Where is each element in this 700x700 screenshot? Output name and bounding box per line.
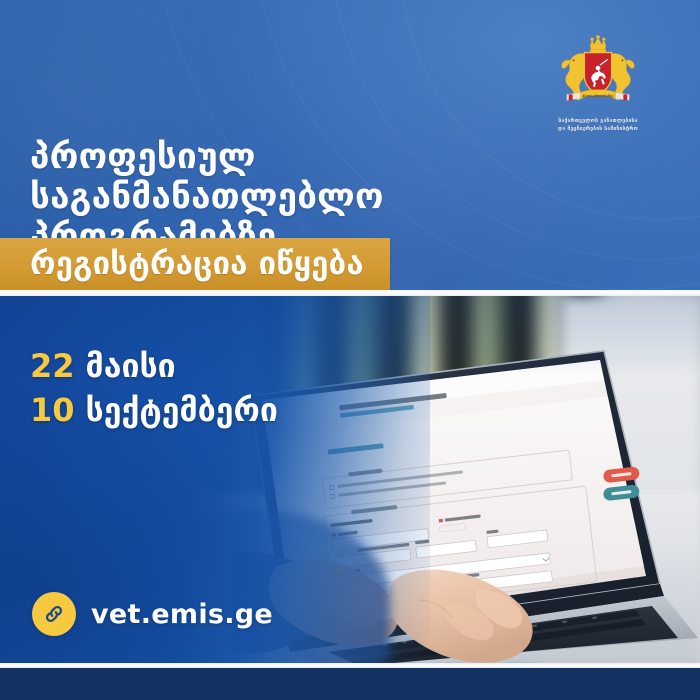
ministry-line-2: და მეცნიერების სამინისტრო [522, 126, 674, 134]
date-2-month: სექტემბერი [86, 389, 278, 433]
ministry-line-1: საქართველოს განათლებისა [522, 118, 674, 126]
georgian-coat-of-arms-icon: ძალა ერთობაშია [549, 34, 647, 112]
link-icon [32, 592, 76, 636]
section-divider-top [0, 290, 700, 296]
ministry-name: საქართველოს განათლებისა და მეცნიერების ს… [522, 118, 674, 134]
footer-band [0, 668, 700, 700]
date-row-1: 22 მაისი [30, 345, 278, 389]
registration-banner-label: რეგისტრაცია იწყება [0, 249, 364, 280]
svg-text:ძალა ერთობაშია: ძალა ერთობაშია [582, 94, 613, 98]
date-row-2: 10 სექტემბერი [30, 389, 278, 433]
date-1-day: 22 [30, 345, 75, 389]
poster-root: ძალა ერთობაშია საქართველოს განათლებისა დ… [0, 0, 700, 700]
dates-block: 22 მაისი 10 სექტემბერი [30, 345, 278, 432]
registration-banner: რეგისტრაცია იწყება [0, 238, 390, 290]
date-2-day: 10 [30, 389, 75, 433]
ministry-identity: ძალა ერთობაშია საქართველოს განათლებისა დ… [518, 34, 678, 134]
headline-line-1: პროფესიულ [30, 138, 630, 178]
website-url-text: vet.emis.ge [91, 599, 273, 630]
website-link[interactable]: vet.emis.ge [32, 592, 273, 636]
date-1-month: მაისი [86, 345, 176, 389]
